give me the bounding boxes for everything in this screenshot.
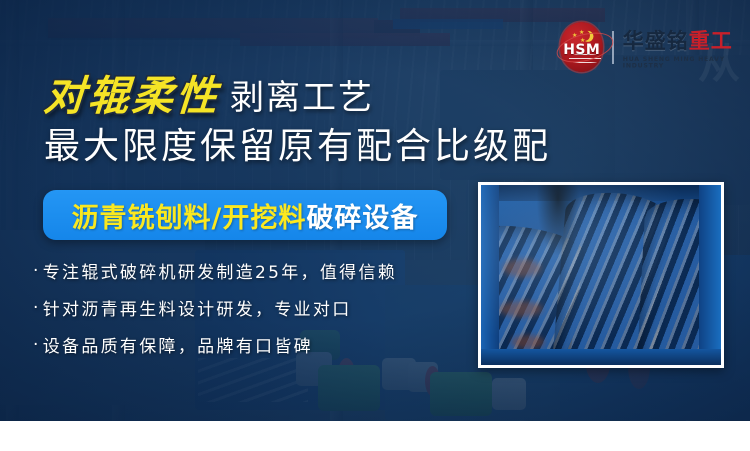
headline-brush-text: 对辊柔性 [43,76,222,117]
hsm-emblem-icon: ★ ★ ★ HSM [560,22,603,72]
product-title-pill[interactable]: 沥青铣刨料/开挖料 破碎设备 [43,190,447,240]
bullet-dot-icon: · [33,335,41,355]
list-item: · 专注辊式破碎机研发制造25年，值得信赖 [33,258,397,283]
headline-line-1-rest: 剥离工艺 [230,81,374,115]
company-name-en: HUA SHENG MING HEAVY INDUSTRY [623,56,750,69]
bullet-dot-icon: · [33,298,41,318]
promo-banner: 从 ★ ★ ★ HSM 华盛铭 重工 HUA SHENG MING HEAVY … [0,0,750,421]
company-name-cn: 华盛铭 重工 [623,25,750,55]
company-name-primary: 华盛铭 [623,25,689,55]
list-item-label: 针对沥青再生料设计研发，专业对口 [43,295,352,320]
list-item: · 设备品质有保障，品牌有口皆碑 [33,332,397,357]
product-photo[interactable] [478,182,724,368]
headline-block: 对辊柔性 剥离工艺 最大限度保留原有配合比级配 [44,76,551,167]
list-item-label: 设备品质有保障，品牌有口皆碑 [43,332,313,357]
feature-list: · 专注辊式破碎机研发制造25年，值得信赖 · 针对沥青再生料设计研发，专业对口… [33,258,397,357]
bullet-dot-icon: · [33,261,41,281]
list-item-label: 专注辊式破碎机研发制造25年，值得信赖 [43,258,397,283]
logo-divider [612,31,613,64]
product-title-highlight: 沥青铣刨料/开挖料 [72,196,307,235]
logo-text-block: 华盛铭 重工 HUA SHENG MING HEAVY INDUSTRY [623,25,750,70]
headline-line-1: 对辊柔性 剥离工艺 [44,76,551,117]
photo-highlight [481,185,721,365]
brand-logo[interactable]: ★ ★ ★ HSM 华盛铭 重工 HUA SHENG MING HEAVY IN… [560,22,750,72]
headline-line-2: 最大限度保留原有配合比级配 [44,127,551,167]
company-name-accent: 重工 [689,25,733,55]
product-title-rest: 破碎设备 [306,196,418,235]
list-item: · 针对沥青再生料设计研发，专业对口 [33,295,397,320]
